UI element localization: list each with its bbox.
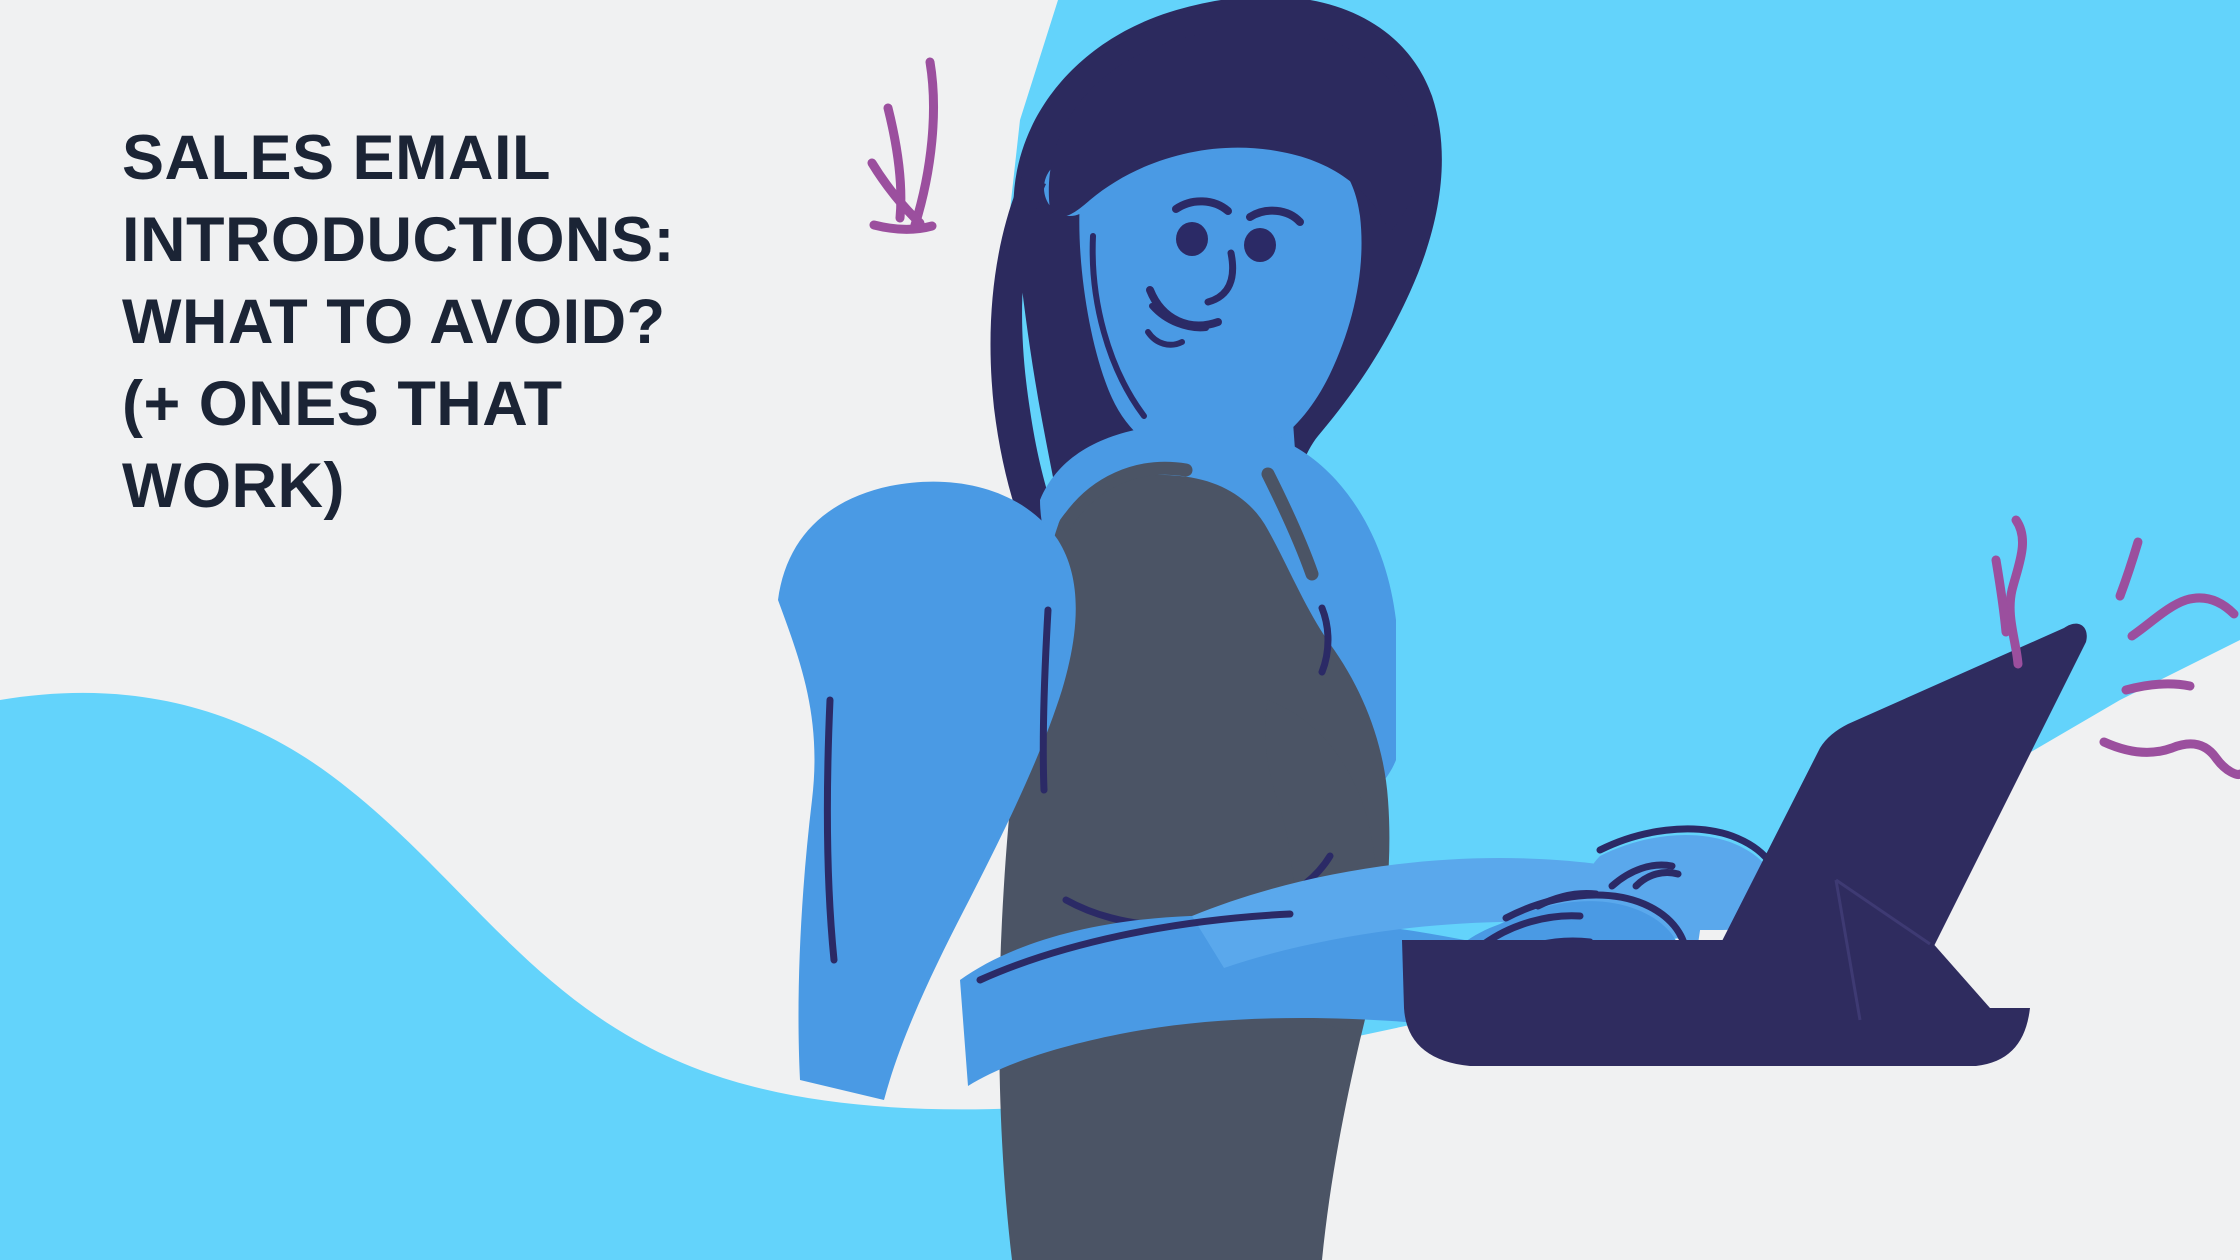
- sparkle-squiggle-2: [2132, 598, 2234, 636]
- sparkle-line-5: [1996, 560, 2006, 632]
- sparkle-line-6: [2120, 542, 2138, 596]
- sparkle-squiggle-1: [2010, 520, 2022, 664]
- banner-canvas: SALES EMAIL INTRODUCTIONS: WHAT TO AVOID…: [0, 0, 2240, 1260]
- sparkle-line-7: [2126, 684, 2190, 690]
- sparkle-lines-laptop: [0, 0, 2240, 1260]
- sparkle-squiggle-3: [2104, 742, 2240, 774]
